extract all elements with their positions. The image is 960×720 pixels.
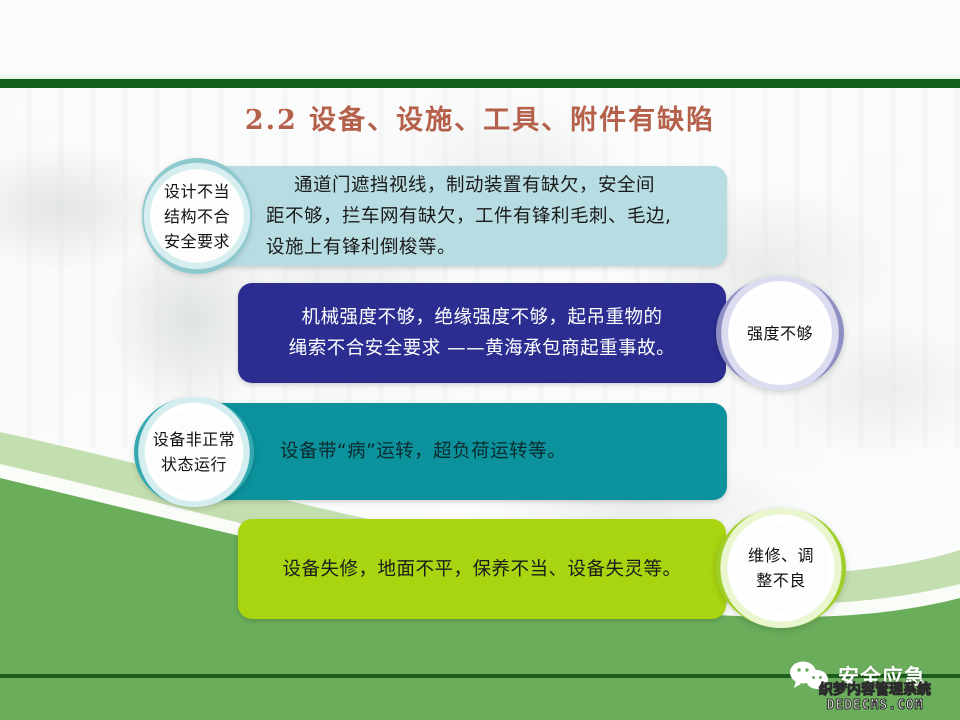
- content-line: 设备带“病”运转，超负荷运转等。: [280, 436, 707, 467]
- content-bar-4-text: 设备失修，地面不平，保养不当、设备失灵等。: [238, 554, 726, 585]
- content-bar-4: 设备失修，地面不平，保养不当、设备失灵等。: [238, 519, 726, 619]
- badge-label-line: 结构不合: [164, 204, 230, 229]
- badge-label: 强度不够: [747, 321, 813, 346]
- badge-label-line: 状态运行: [153, 452, 236, 477]
- badge-inner: 设计不当 结构不合 安全要求: [153, 170, 241, 262]
- content-line: 通道门遮挡视线，制动装置有缺欠，安全间: [266, 170, 709, 201]
- badge-label: 维修、调 整不良: [748, 543, 814, 593]
- content-line: 设备失修，地面不平，保养不当、设备失灵等。: [258, 554, 706, 585]
- slide-canvas: 2.2 设备、设施、工具、附件有缺陷 通道门遮挡视线，制动装置有缺欠，安全间 距…: [0, 0, 960, 720]
- content-bar-2: 机械强度不够，绝缘强度不够，起吊重物的 绳索不合安全要求 ——黄海承包商起重事故…: [238, 283, 726, 383]
- page-title: 2.2 设备、设施、工具、附件有缺陷: [0, 98, 960, 137]
- badge-label-line: 设计不当: [164, 179, 230, 204]
- badge-insufficient-strength[interactable]: 强度不够: [716, 276, 844, 390]
- watermark-en: DEDECMS.COM: [790, 698, 960, 714]
- badge-label-line: 维修、调: [748, 543, 814, 568]
- badge-inner: 强度不够: [732, 290, 828, 376]
- content-line: 设施上有锋利倒梭等。: [266, 232, 709, 263]
- content-line: 机械强度不够，绝缘强度不够，起吊重物的: [260, 302, 704, 333]
- badge-inner: 维修、调 整不良: [733, 524, 829, 612]
- content-bar-2-text: 机械强度不够，绝缘强度不够，起吊重物的 绳索不合安全要求 ——黄海承包商起重事故…: [238, 302, 726, 364]
- badge-label-line: 安全要求: [164, 229, 230, 254]
- badge-design-defect[interactable]: 设计不当 结构不合 安全要求: [142, 158, 252, 274]
- content-line: 距不够，拦车网有缺欠，工件有锋利毛刺、毛边,: [266, 201, 709, 232]
- content-line: 绳索不合安全要求 ——黄海承包商起重事故。: [260, 333, 704, 364]
- content-bar-1: 通道门遮挡视线，制动装置有缺欠，安全间 距不够，拦车网有缺欠，工件有锋利毛刺、毛…: [170, 166, 727, 266]
- badge-label-line: 设备非正常: [153, 427, 236, 452]
- badge-label-line: 强度不够: [747, 321, 813, 346]
- badge-label-line: 整不良: [748, 568, 814, 593]
- badge-label: 设备非正常 状态运行: [153, 427, 236, 477]
- badge-inner: 设备非正常 状态运行: [148, 410, 240, 494]
- content-bar-1-text: 通道门遮挡视线，制动装置有缺欠，安全间 距不够，拦车网有缺欠，工件有锋利毛刺、毛…: [170, 170, 727, 263]
- watermark: 织梦内容管理系统 DEDECMS.COM: [790, 682, 960, 714]
- top-green-bar: [0, 79, 960, 88]
- watermark-cn: 织梦内容管理系统: [790, 682, 960, 698]
- badge-label: 设计不当 结构不合 安全要求: [164, 179, 230, 254]
- badge-abnormal-operation[interactable]: 设备非正常 状态运行: [134, 397, 254, 507]
- badge-poor-maintenance[interactable]: 维修、调 整不良: [716, 508, 846, 628]
